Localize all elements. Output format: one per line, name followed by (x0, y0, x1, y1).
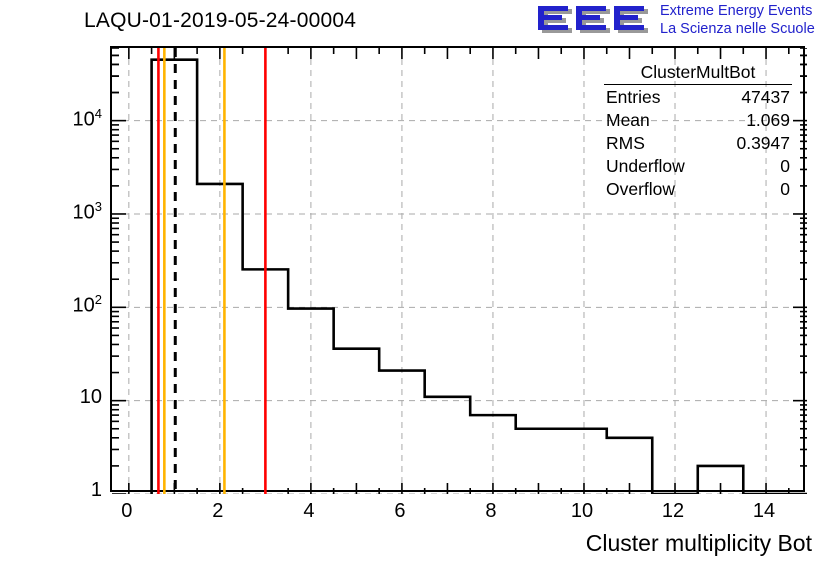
x-tick-label: 12 (648, 500, 698, 523)
x-tick-label: 14 (739, 500, 789, 523)
x-tick-label: 6 (375, 500, 425, 523)
eee-logo-text: Extreme Energy Events La Scienza nelle S… (660, 3, 815, 38)
stats-title: ClusterMultBot (604, 62, 792, 85)
eee-mark-icon (536, 2, 654, 40)
x-tick-label: 10 (557, 500, 607, 523)
stats-row: RMS0.3947 (600, 132, 796, 155)
y-tick-label: 102 (73, 292, 102, 318)
stats-row-value: 0.3947 (736, 132, 790, 155)
page-title: LAQU-01-2019-05-24-00004 (84, 9, 356, 33)
root-canvas: LAQU-01-2019-05-24-00004 Extreme Energy … (0, 0, 836, 572)
x-axis-title: Cluster multiplicity Bot (586, 530, 812, 557)
y-tick-label: 104 (73, 106, 102, 132)
eee-logo-line1: Extreme Energy Events (660, 3, 815, 21)
stats-rows: Entries47437Mean1.069RMS0.3947Underflow0… (600, 86, 796, 201)
stats-box: ClusterMultBot Entries47437Mean1.069RMS0… (600, 62, 796, 201)
stats-row-value: 0 (780, 155, 790, 178)
eee-logo: Extreme Energy Events La Scienza nelle S… (536, 2, 832, 42)
marker-lines (158, 48, 265, 494)
stats-row: Overflow0 (600, 178, 796, 201)
stats-row-value: 0 (780, 178, 790, 201)
x-tick-label: 0 (102, 500, 152, 523)
x-tick-label: 8 (466, 500, 516, 523)
stats-row-key: Entries (606, 86, 660, 109)
stats-row-key: Overflow (606, 178, 675, 201)
stats-row-key: RMS (606, 132, 645, 155)
y-tick-label: 103 (73, 199, 102, 225)
stats-row: Entries47437 (600, 86, 796, 109)
x-tick-label: 2 (193, 500, 243, 523)
y-tick-label: 1 (91, 479, 102, 502)
stats-row-value: 1.069 (746, 109, 790, 132)
y-tick-label: 10 (80, 386, 102, 409)
x-tick-label: 4 (284, 500, 334, 523)
stats-row-key: Mean (606, 109, 650, 132)
stats-row: Underflow0 (600, 155, 796, 178)
stats-row-value: 47437 (741, 86, 790, 109)
stats-row-key: Underflow (606, 155, 685, 178)
eee-logo-line2: La Scienza nelle Scuole (660, 21, 815, 39)
stats-row: Mean1.069 (600, 109, 796, 132)
